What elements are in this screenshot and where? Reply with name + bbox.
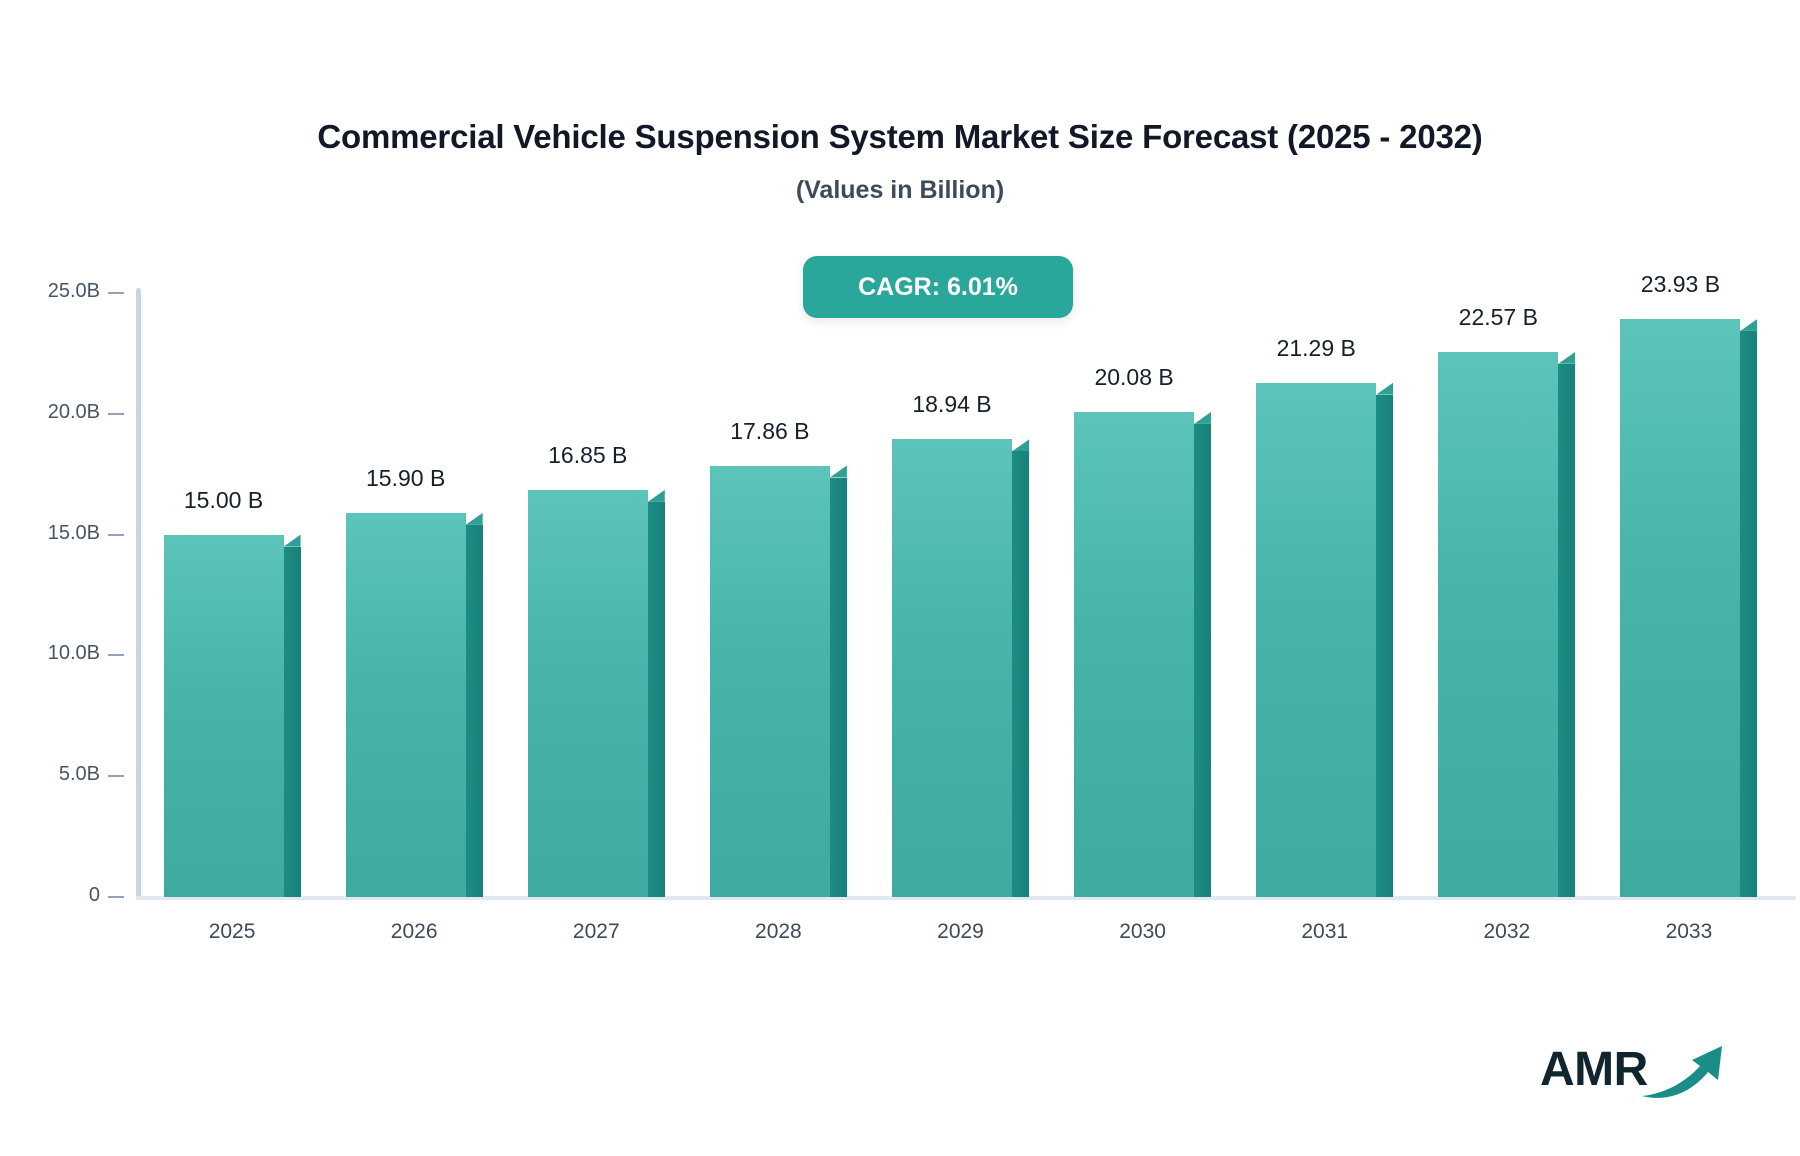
bar-top-face	[1740, 319, 1757, 331]
x-axis-tick-label: 2026	[314, 920, 514, 944]
bar-front-face	[1620, 319, 1740, 897]
bar-value-label: 18.94 B	[852, 391, 1052, 418]
chart-page: Commercial Vehicle Suspension System Mar…	[0, 0, 1800, 1156]
bar-front-face	[164, 535, 284, 897]
bar-side-face	[466, 525, 483, 897]
bar-front-face	[1074, 412, 1194, 897]
bar-top-face	[1376, 383, 1393, 395]
bar-value-label: 20.08 B	[1034, 364, 1234, 391]
bar-top-face	[648, 490, 665, 502]
bar	[1074, 412, 1194, 897]
bar-front-face	[346, 513, 466, 897]
x-axis-tick-label: 2028	[678, 920, 878, 944]
bar-top-face	[1194, 412, 1211, 424]
bar	[1438, 352, 1558, 897]
bar-side-face	[1740, 331, 1757, 897]
y-axis-tick-mark	[108, 896, 124, 898]
x-axis-tick-label: 2033	[1589, 920, 1789, 944]
bar-value-label: 23.93 B	[1580, 271, 1780, 298]
y-axis-tick-label: 5.0B	[0, 763, 100, 786]
y-axis-tick-mark	[108, 292, 124, 294]
bar-top-face	[830, 466, 847, 478]
plot-area: 05.0B10.0B15.0B20.0B25.0B 15.00 B15.90 B…	[0, 0, 1800, 1156]
x-axis-tick-label: 2031	[1225, 920, 1425, 944]
y-axis-tick-label: 20.0B	[0, 401, 100, 424]
bar	[346, 513, 466, 897]
bar	[1620, 319, 1740, 897]
bar-front-face	[528, 490, 648, 897]
bar	[528, 490, 648, 897]
bar	[710, 466, 830, 897]
bar-top-face	[466, 513, 483, 525]
bar-front-face	[892, 439, 1012, 897]
growth-arrow-icon	[1640, 1040, 1740, 1102]
bar-side-face	[830, 478, 847, 897]
bar-front-face	[1438, 352, 1558, 897]
bar-value-label: 15.00 B	[124, 487, 324, 514]
amr-logo: AMR	[1540, 1040, 1740, 1110]
amr-logo-text: AMR	[1540, 1042, 1648, 1097]
y-axis-line	[136, 288, 141, 900]
bar-top-face	[1558, 352, 1575, 364]
y-axis-tick-label: 0	[0, 884, 100, 907]
bar-top-face	[1012, 439, 1029, 451]
y-axis-tick-mark	[108, 534, 124, 536]
x-axis-tick-label: 2032	[1407, 920, 1607, 944]
bar-front-face	[1256, 383, 1376, 897]
bar-side-face	[284, 547, 301, 897]
bar-value-label: 22.57 B	[1398, 304, 1598, 331]
bar-side-face	[1558, 364, 1575, 897]
bar-side-face	[1012, 451, 1029, 897]
bar	[892, 439, 1012, 897]
x-axis-tick-label: 2030	[1043, 920, 1243, 944]
x-axis-tick-label: 2025	[132, 920, 332, 944]
y-axis-tick-label: 10.0B	[0, 642, 100, 665]
bar-value-label: 15.90 B	[306, 465, 506, 492]
bar-side-face	[1194, 424, 1211, 897]
y-axis-tick-label: 15.0B	[0, 522, 100, 545]
bar	[1256, 383, 1376, 897]
bar-value-label: 17.86 B	[670, 418, 870, 445]
y-axis-tick-label: 25.0B	[0, 280, 100, 303]
y-axis-tick-mark	[108, 413, 124, 415]
bar-value-label: 16.85 B	[488, 442, 688, 469]
bar-top-face	[284, 535, 301, 547]
bar-side-face	[648, 502, 665, 897]
bar-value-label: 21.29 B	[1216, 335, 1416, 362]
bar	[164, 535, 284, 897]
x-axis-tick-label: 2027	[496, 920, 696, 944]
y-axis-tick-mark	[108, 654, 124, 656]
bar-front-face	[710, 466, 830, 897]
bar-side-face	[1376, 395, 1393, 897]
y-axis-tick-mark	[108, 775, 124, 777]
x-axis-tick-label: 2029	[861, 920, 1061, 944]
